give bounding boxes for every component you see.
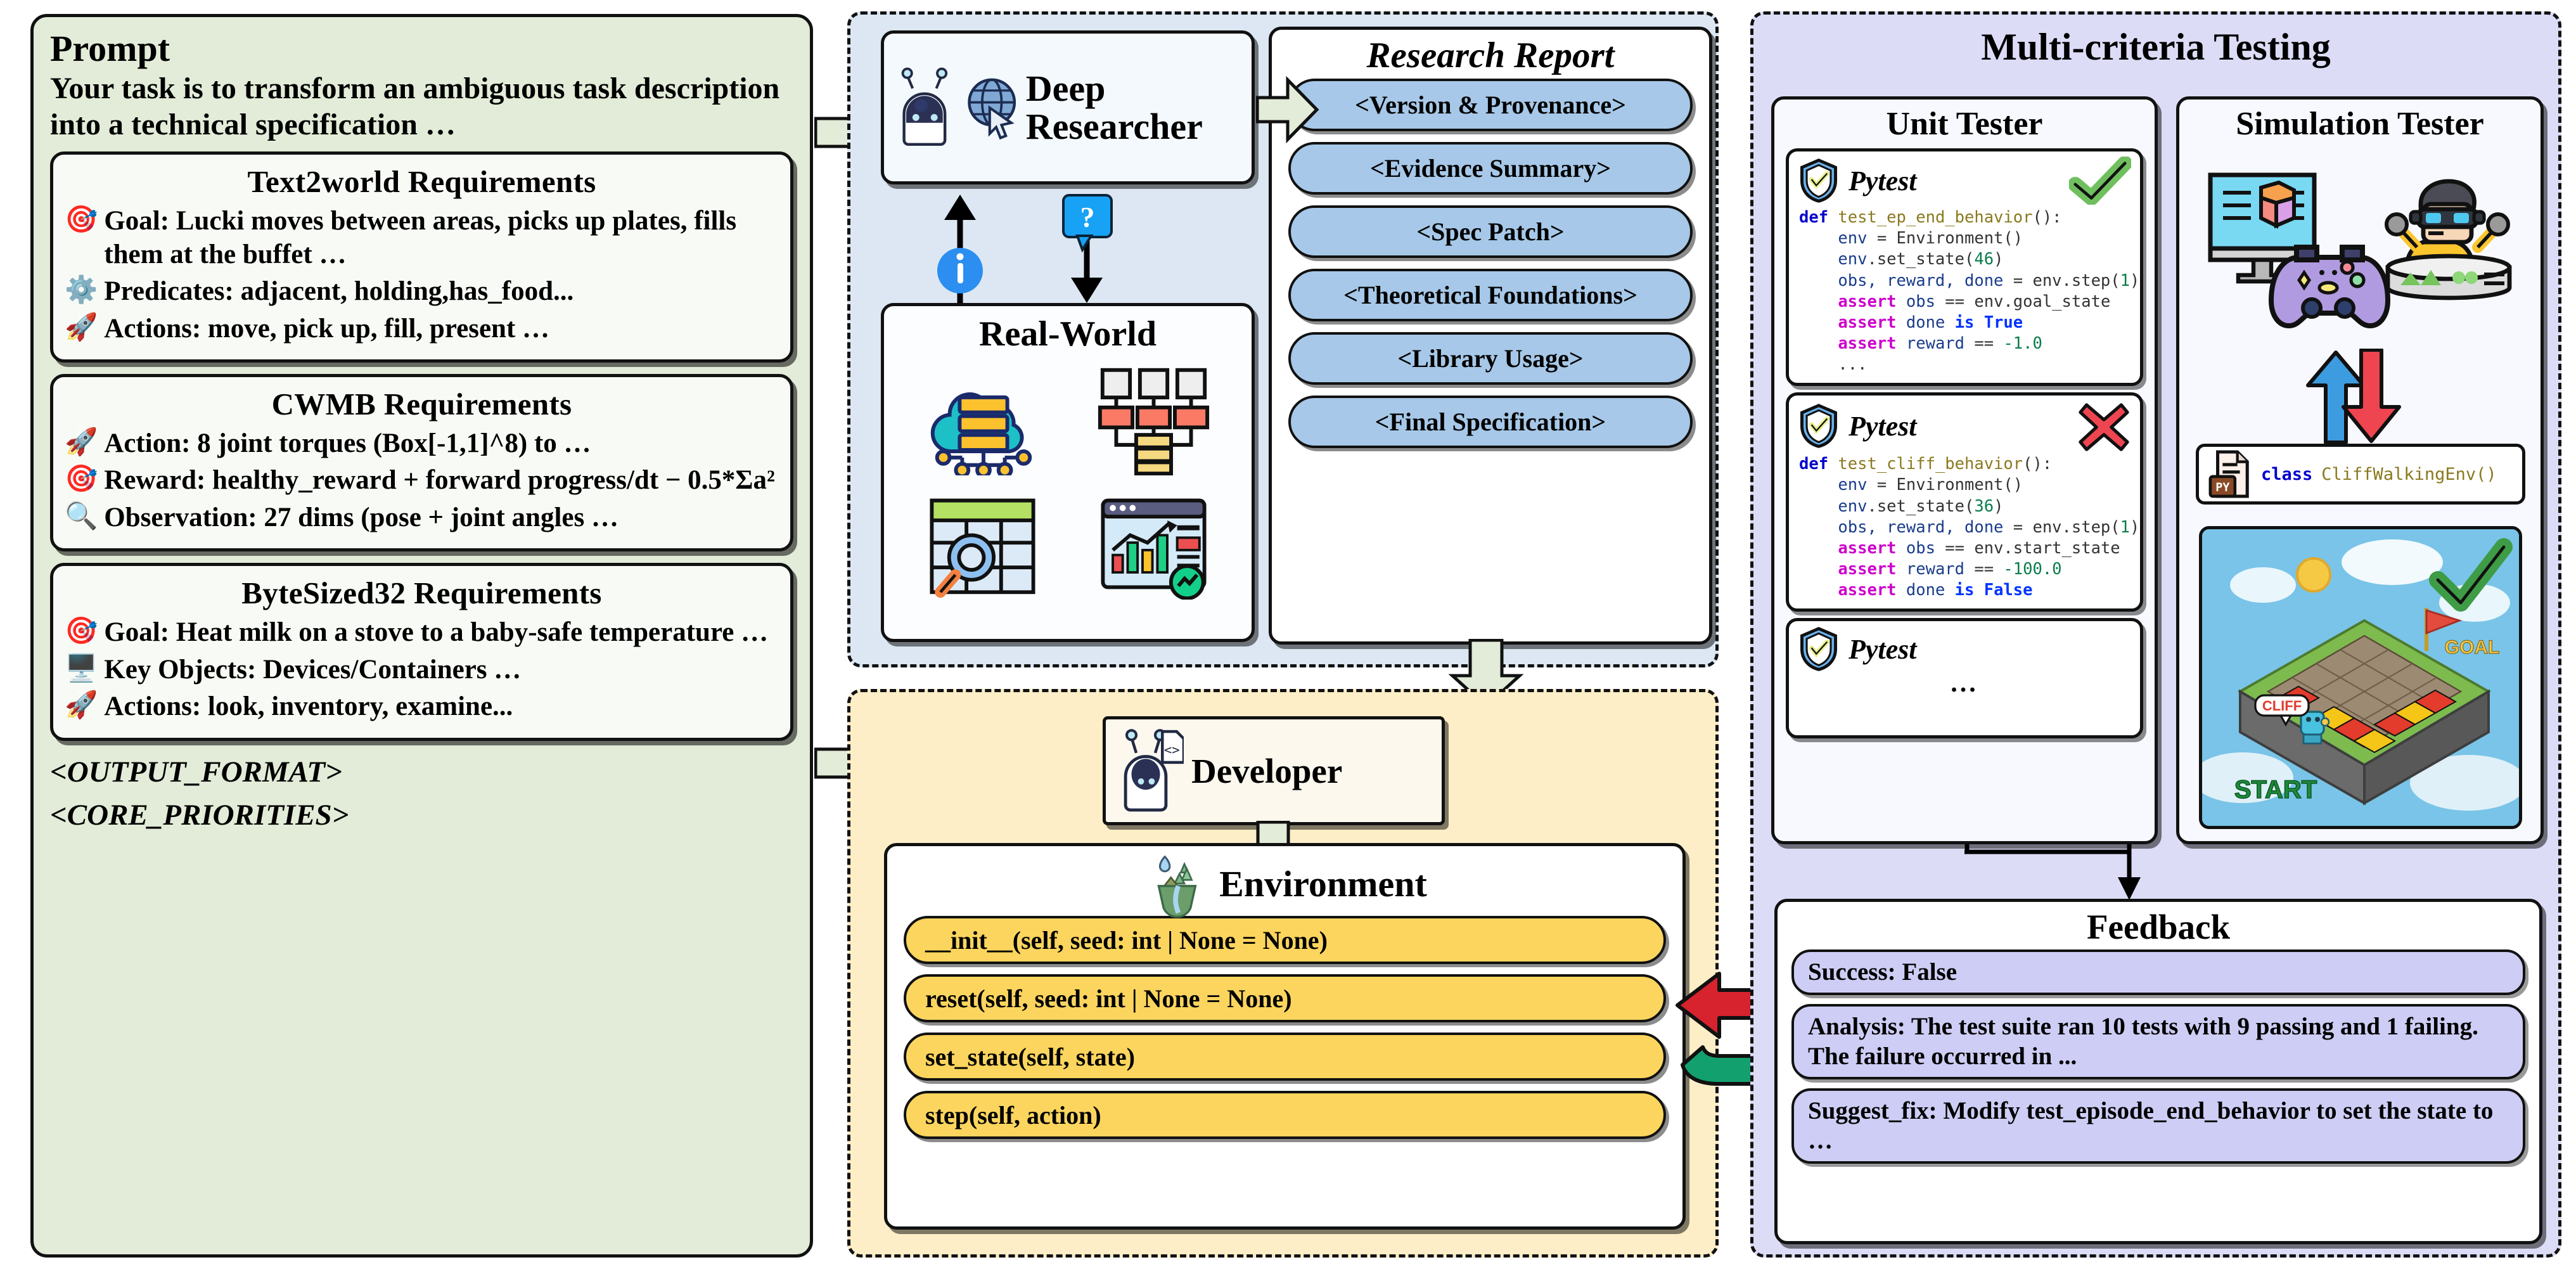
env-method-reset[interactable]: reset(self, seed: int | None = None): [904, 974, 1666, 1022]
target-icon: 🎯: [65, 205, 98, 235]
target-icon: 🎯: [65, 616, 98, 647]
report-section-theory[interactable]: <Theoretical Foundations>: [1288, 269, 1693, 321]
network-nodes-icon: [1069, 358, 1238, 482]
pytest-case-fail[interactable]: Pytest def test_cliff_behavior(): env = …: [1786, 392, 2143, 612]
feedback-analysis[interactable]: Analysis: The test suite ran 10 tests wi…: [1791, 1004, 2525, 1079]
pytest-label: Pytest: [1849, 165, 1917, 197]
requirement-row: ⚙️ Predicates: adjacent, holding,has_foo…: [65, 275, 779, 308]
env-method-set-state[interactable]: set_state(self, state): [904, 1033, 1666, 1081]
dashboard-chart-icon: [1069, 484, 1238, 608]
card-heading: ByteSized32 Requirements: [65, 575, 779, 611]
figure-root: Prompt Your task is to transform an ambi…: [0, 0, 2576, 1274]
research-report-card: Research Report <Version & Provenance> <…: [1269, 27, 1712, 645]
py-badge-label: PY: [2215, 481, 2230, 494]
testing-title: Multi-criteria Testing: [1750, 25, 2561, 69]
requirement-text: Predicates: adjacent, holding,has_food..…: [104, 275, 779, 308]
pytest-code-pass: def test_ep_end_behavior(): env = Enviro…: [1789, 205, 2140, 383]
cliffwalking-grid-illustration: GOAL CLIFF START: [2199, 526, 2522, 829]
class-name: CliffWalkingEnv(): [2321, 465, 2496, 484]
class-keyword: class: [2261, 465, 2312, 484]
rocket-icon: 🚀: [65, 312, 98, 343]
svg-text:<>: <>: [1164, 742, 1180, 757]
requirement-text: Observation: 27 dims (pose + joint angle…: [104, 501, 779, 534]
arrow-researcher-to-report: [1256, 75, 1319, 145]
requirements-card-cwmb: CWMB Requirements 🚀 Action: 8 joint torq…: [50, 374, 793, 551]
unit-tester-card: Unit Tester Pytest def test_ep_end_behav…: [1771, 96, 2158, 844]
requirement-row: 🎯 Reward: healthy_reward + forward progr…: [65, 464, 779, 497]
env-method-step[interactable]: step(self, action): [904, 1091, 1666, 1139]
feedback-join-line-left: [1961, 844, 1973, 863]
globe-search-icon: [964, 70, 1022, 146]
requirements-card-text2world: Text2world Requirements 🎯 Goal: Lucki mo…: [50, 151, 793, 363]
output-format-tag: <OUTPUT_FORMAT>: [50, 752, 793, 792]
pytest-label: Pytest: [1849, 633, 1917, 666]
goal-label: GOAL: [2445, 637, 2500, 658]
pytest-code-fail: def test_cliff_behavior(): env = Environ…: [1789, 451, 2140, 608]
feedback-card: Feedback Success: False Analysis: The te…: [1774, 899, 2542, 1244]
feedback-success[interactable]: Success: False: [1791, 949, 2525, 995]
requirement-row: 🚀 Actions: look, inventory, examine...: [65, 690, 779, 723]
python-file-icon: PY: [2208, 449, 2252, 499]
report-section-library[interactable]: <Library Usage>: [1288, 332, 1693, 385]
sim-exchange-arrows: [2300, 349, 2421, 444]
requirements-card-bytesized32: ByteSized32 Requirements 🎯 Goal: Heat mi…: [50, 563, 793, 740]
svg-text:?: ?: [1080, 201, 1095, 233]
simulation-tester-title: Simulation Tester: [2179, 100, 2541, 142]
requirement-text: Goal: Lucki moves between areas, picks u…: [104, 205, 779, 271]
magnifier-icon: 🔍: [65, 501, 98, 532]
target-icon: 🎯: [65, 464, 98, 494]
robot-code-icon: <>: [1117, 726, 1184, 815]
table-search-icon: [898, 484, 1067, 608]
check-pass-icon: [2069, 157, 2131, 205]
pytest-label: Pytest: [1849, 410, 1917, 442]
rocket-icon: 🚀: [65, 690, 98, 721]
pytest-ellipsis: ...: [1789, 668, 2140, 698]
shield-check-icon: [1798, 158, 1840, 203]
core-priorities-tag: <CORE_PRIORITIES>: [50, 795, 793, 835]
research-report-title: Research Report: [1272, 30, 1709, 79]
vr-user-icon: [2375, 176, 2521, 309]
pytest-case-pass[interactable]: Pytest def test_ep_end_behavior(): env =…: [1786, 148, 2143, 386]
requirement-text: Action: 8 joint torques (Box[-1,1]^8) to…: [104, 427, 779, 460]
feedback-title: Feedback: [1778, 902, 2539, 949]
start-label: START: [2234, 776, 2317, 804]
rocket-icon: 🚀: [65, 427, 98, 458]
cross-fail-icon: [2077, 401, 2131, 451]
report-section-final-spec[interactable]: <Final Specification>: [1288, 396, 1693, 448]
feedback-suggest-fix[interactable]: Suggest_fix: Modify test_episode_end_beh…: [1791, 1088, 2525, 1164]
robot-icon: [895, 60, 960, 155]
shield-check-icon: [1798, 626, 1840, 672]
devices-icon: 🖥️: [65, 653, 98, 684]
deep-researcher-card: Deep Researcher: [881, 30, 1255, 184]
deep-researcher-label: Deep Researcher: [1026, 70, 1252, 145]
developer-label: Developer: [1191, 751, 1342, 791]
shield-check-icon: [1798, 403, 1840, 449]
cliffwalking-class-box[interactable]: PY class CliffWalkingEnv(): [2196, 444, 2525, 505]
cloud-server-icon: [898, 358, 1067, 482]
requirement-row: 🚀 Action: 8 joint torques (Box[-1,1]^8) …: [65, 427, 779, 460]
page-title: Prompt: [50, 30, 793, 68]
requirement-text: Reward: healthy_reward + forward progres…: [104, 464, 779, 497]
requirement-text: Actions: move, pick up, fill, present …: [104, 312, 779, 345]
prompt-subtitle: Your task is to transform an ambiguous t…: [50, 71, 793, 143]
requirement-row: 🖥️ Key Objects: Devices/Containers …: [65, 653, 779, 686]
prompt-panel: Prompt Your task is to transform an ambi…: [30, 14, 813, 1258]
requirement-row: 🔍 Observation: 27 dims (pose + joint ang…: [65, 501, 779, 534]
environment-icon: [1143, 849, 1209, 918]
cliff-label: CLIFF: [2262, 698, 2302, 714]
gamepad-icon: [2266, 235, 2393, 336]
real-world-title: Real-World: [884, 306, 1252, 354]
feedback-join-line: [1964, 844, 2148, 863]
real-world-card: Real-World: [881, 303, 1255, 642]
env-method-init[interactable]: __init__(self, seed: int | None = None): [904, 916, 1666, 964]
developer-card: <> Developer: [1103, 716, 1445, 825]
requirement-text: Goal: Heat milk on a stove to a baby-saf…: [104, 616, 779, 649]
report-section-spec-patch[interactable]: <Spec Patch>: [1288, 205, 1693, 258]
environment-title: Environment: [1219, 863, 1427, 905]
requirement-row: 🎯 Goal: Heat milk on a stove to a baby-s…: [65, 616, 779, 649]
card-heading: CWMB Requirements: [65, 386, 779, 422]
report-section-version[interactable]: <Version & Provenance>: [1288, 79, 1693, 131]
requirement-row: 🚀 Actions: move, pick up, fill, present …: [65, 312, 779, 345]
requirement-text: Key Objects: Devices/Containers …: [104, 653, 779, 686]
report-section-evidence[interactable]: <Evidence Summary>: [1288, 142, 1693, 195]
environment-card: Environment __init__(self, seed: int | N…: [884, 843, 1686, 1230]
pytest-case-more[interactable]: Pytest ...: [1786, 618, 2143, 738]
requirement-row: 🎯 Goal: Lucki moves between areas, picks…: [65, 205, 779, 271]
requirement-text: Actions: look, inventory, examine...: [104, 690, 779, 723]
question-arrow-down: ?: [1052, 190, 1122, 304]
info-arrow-up: [932, 193, 989, 304]
gear-icon: ⚙️: [65, 275, 98, 306]
card-heading: Text2world Requirements: [65, 164, 779, 200]
unit-tester-title: Unit Tester: [1774, 100, 2155, 142]
